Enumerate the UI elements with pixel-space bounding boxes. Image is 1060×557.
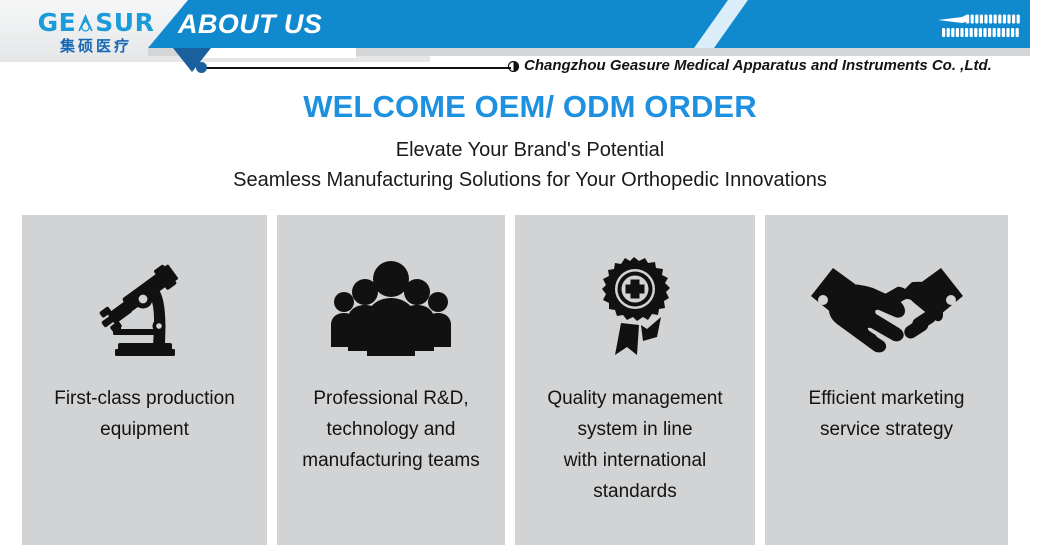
hero-subtitle-line-1: Elevate Your Brand's Potential: [0, 137, 1060, 163]
banner-notch-highlight: [196, 48, 356, 58]
feature-card-text: Professional R&D, technology and manufac…: [294, 383, 487, 476]
feature-card-text: Quality management system in line with i…: [539, 383, 730, 507]
feature-card-production-equipment[interactable]: First-class production equipment: [22, 215, 267, 545]
hero-subtitle-line-2: Seamless Manufacturing Solutions for You…: [0, 167, 1060, 193]
team-people-icon: [328, 253, 454, 361]
handshake-icon: [807, 253, 967, 361]
feature-card-rd-team[interactable]: Professional R&D, technology and manufac…: [277, 215, 505, 545]
hero-title-area: WELCOME OEM/ ODM ORDER Elevate Your Bran…: [0, 88, 1060, 193]
tagline-bullet-icon: [508, 59, 519, 70]
feature-card-quality-system[interactable]: Quality management system in line with i…: [515, 215, 755, 545]
company-tagline: Changzhou Geasure Medical Apparatus and …: [524, 56, 992, 75]
page-header: GE SUR 集硕医疗 ABOUT US: [0, 0, 1060, 85]
logo-text-left: GE: [38, 10, 77, 35]
bone-screws-ornament: [932, 12, 1028, 40]
company-logo[interactable]: GE SUR 集硕医疗: [26, 6, 166, 58]
feature-card-text: First-class production equipment: [46, 383, 243, 445]
logo-wordmark: GE SUR: [38, 10, 155, 35]
water-drop-icon: [77, 13, 94, 32]
logo-chinese-name: 集硕医疗: [60, 39, 132, 54]
tagline-dot: [196, 62, 207, 73]
feature-cards-row: First-class production equipment: [22, 215, 1038, 545]
page-title: WELCOME OEM/ ODM ORDER: [0, 88, 1060, 126]
feature-card-text: Efficient marketing service strategy: [801, 383, 973, 445]
logo-text-right: SUR: [95, 10, 154, 35]
microscope-icon: [93, 253, 197, 361]
feature-card-marketing-service[interactable]: Efficient marketing service strategy: [765, 215, 1008, 545]
quality-medal-icon: [585, 253, 685, 361]
tagline-rule: [206, 67, 511, 69]
banner-title: ABOUT US: [178, 7, 322, 41]
